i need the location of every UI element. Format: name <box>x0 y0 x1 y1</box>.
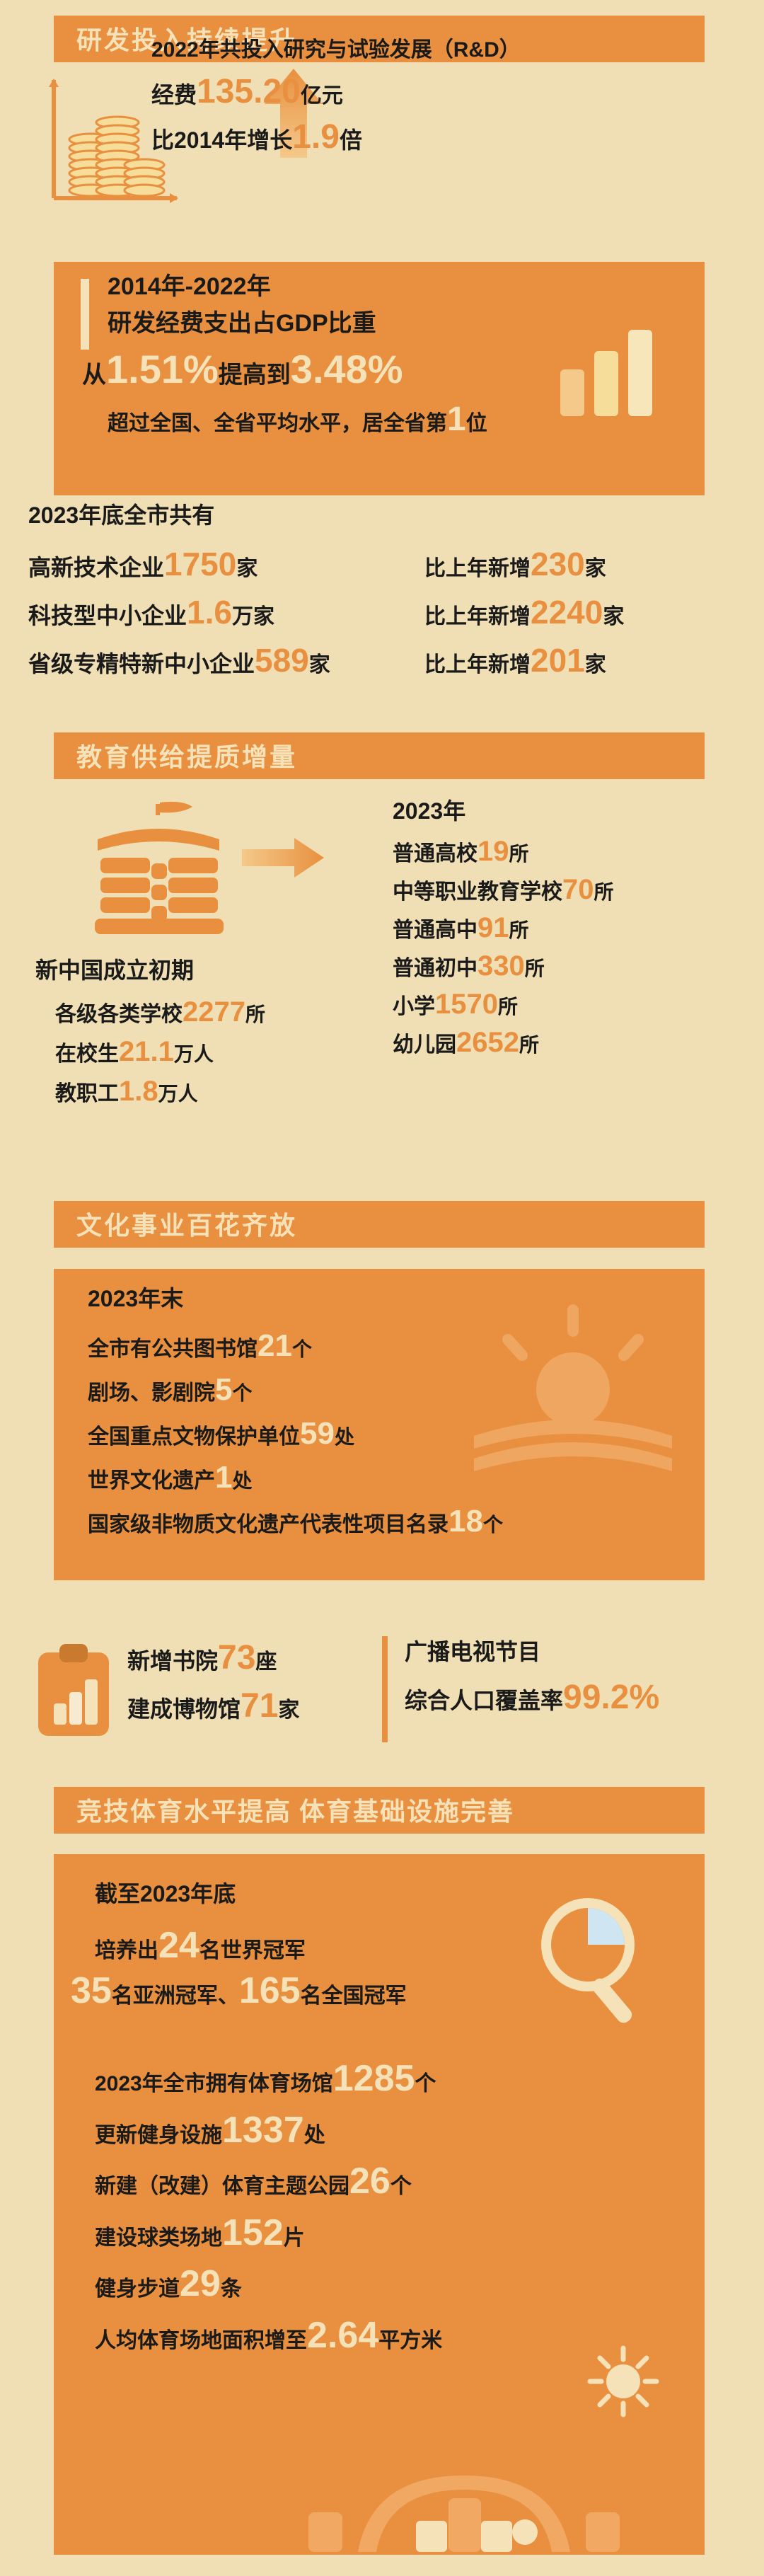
list-item: 2023年全市拥有体育场馆1285个 <box>95 2059 689 2098</box>
ent-1-unit: 万家 <box>232 605 274 628</box>
list-item: 剧场、影剧院5个 <box>88 1374 682 1406</box>
fac-5-unit: 平方米 <box>378 2329 442 2352</box>
edu-now-5-value: 2652 <box>456 1027 519 1058</box>
ent-1-value: 1.6 <box>187 594 232 631</box>
cul-0-value: 21 <box>257 1328 292 1363</box>
edu-now-0-unit: 所 <box>509 843 529 865</box>
list-item: 更新健身设施1337处 <box>95 2111 689 2150</box>
list-item: 国家级非物质文化遗产代表性项目名录18个 <box>88 1505 682 1538</box>
cul-0-unit: 个 <box>292 1338 312 1360</box>
section-header-sports: 竞技体育水平提高 体育基础设施完善 <box>54 1787 705 1834</box>
ent-0-delta-unit: 家 <box>585 557 606 580</box>
edu-now-4-unit: 所 <box>498 996 518 1018</box>
champ-national-value: 165 <box>239 1970 301 2011</box>
rd-intro-block: 2022年共投入研究与试验发展（R&D） 经费135.20亿元 比2014年增长… <box>151 39 717 155</box>
list-item: 建成博物馆71家 <box>127 1689 382 1724</box>
list-item: 中等职业教育学校70所 <box>393 875 746 904</box>
ent-0-value: 1750 <box>164 546 236 582</box>
sports-panel: 截至2023年底 培养出24名世界冠军 35名亚洲冠军、165名全国冠军 202… <box>54 1854 705 2555</box>
edu-past-0-unit: 所 <box>245 1004 265 1025</box>
cbl-1-value: 71 <box>241 1687 278 1725</box>
list-item: 建设球类场地152片 <box>95 2214 689 2253</box>
bar-chart-icon <box>556 326 662 418</box>
culture-heading: 2023年末 <box>88 1287 682 1311</box>
list-item: 健身步道29条 <box>95 2265 689 2304</box>
cul-0-label: 全市有公共图书馆 <box>88 1338 257 1361</box>
gdp-line-2: 研发经费支出占GDP比重 <box>108 311 487 337</box>
ent-2-value: 589 <box>255 642 309 679</box>
cbr-label: 广播电视节目 <box>405 1640 730 1664</box>
gdp-text-block: 2014年-2022年 研发经费支出占GDP比重 从1.51%提高到3.48% … <box>108 275 487 438</box>
list-item: 在校生21.1万人 <box>55 1037 368 1066</box>
ent-0-delta-label: 比上年新增 <box>424 557 531 580</box>
cbl-0-unit: 座 <box>255 1650 277 1674</box>
gdp-rank-value: 1 <box>447 401 466 438</box>
list-item: 普通高中91所 <box>393 913 746 943</box>
panel-tick <box>81 279 89 350</box>
section-title-culture: 文化事业百花齐放 <box>76 1205 297 1242</box>
rd-line-2: 经费135.20亿元 <box>151 74 717 110</box>
rd-line-2-value: 135.20 <box>197 73 301 110</box>
enterprise-heading: 2023年底全市共有 <box>28 504 743 528</box>
infographic-page: 研发投入持续提升 <box>0 0 764 2576</box>
edu-present-heading: 2023年 <box>393 800 746 824</box>
edu-now-1-label: 中等职业教育学校 <box>393 880 562 904</box>
champ-pre: 培养出 <box>95 1939 158 1962</box>
culture-bottom-right: 广播电视节目 综合人口覆盖率99.2% <box>405 1640 730 1715</box>
education-past-block: 新中国成立初期 各级各类学校2277所 在校生21.1万人 教职工1.8万人 <box>35 959 368 1106</box>
gdp-from-value: 1.51% <box>106 347 219 391</box>
sports-heading: 截至2023年底 <box>95 1882 590 1907</box>
vertical-divider <box>382 1636 388 1742</box>
fac-5-value: 2.64 <box>307 2315 378 2356</box>
edu-now-3-value: 330 <box>477 950 525 982</box>
list-item: 幼儿园2652所 <box>393 1028 746 1057</box>
cbl-1-unit: 家 <box>278 1698 299 1722</box>
right-arrow-icon <box>241 836 325 879</box>
list-item: 新增书院73座 <box>127 1640 382 1676</box>
edu-past-0-label: 各级各类学校 <box>55 1003 183 1026</box>
edu-past-0-value: 2277 <box>183 996 245 1028</box>
fac-4-value: 29 <box>180 2263 221 2304</box>
list-item: 普通高校19所 <box>393 836 746 866</box>
champ-asia-value: 35 <box>71 1970 112 2011</box>
edu-now-4-label: 小学 <box>393 995 435 1018</box>
edu-now-2-unit: 所 <box>509 919 529 941</box>
fac-4-label: 健身步道 <box>95 2277 180 2301</box>
edu-now-4-value: 1570 <box>435 989 498 1020</box>
edu-past-2-label: 教职工 <box>55 1082 119 1105</box>
ent-2-delta-value: 201 <box>531 642 585 679</box>
fac-2-value: 26 <box>349 2161 390 2202</box>
section-header-culture: 文化事业百花齐放 <box>54 1201 705 1248</box>
gdp-from-label: 从 <box>82 362 106 389</box>
cul-4-value: 18 <box>448 1504 483 1539</box>
fac-1-value: 1337 <box>222 2110 304 2151</box>
rd-line-3-value: 1.9 <box>292 118 340 156</box>
list-item: 普通初中330所 <box>393 951 746 981</box>
ent-0-delta-value: 230 <box>531 546 585 582</box>
champion-line-2: 35名亚洲冠军、165名全国冠军 <box>71 1972 590 2011</box>
fac-1-unit: 处 <box>304 2124 325 2147</box>
rd-gdp-panel: 2014年-2022年 研发经费支出占GDP比重 从1.51%提高到3.48% … <box>54 262 705 495</box>
fac-2-unit: 个 <box>390 2175 412 2198</box>
cul-2-unit: 处 <box>335 1426 354 1448</box>
gdp-rank-unit: 位 <box>466 412 487 435</box>
ent-2-delta-unit: 家 <box>585 653 606 677</box>
enterprise-block: 2023年底全市共有 高新技术企业1750家 比上年新增230家 科技型中小企业… <box>28 504 743 679</box>
edu-now-0-label: 普通高校 <box>393 842 477 866</box>
cul-3-label: 世界文化遗产 <box>88 1469 215 1493</box>
list-item: 教职工1.8万人 <box>55 1076 368 1106</box>
fac-0-value: 1285 <box>333 2058 415 2099</box>
gdp-rank-label: 超过全国、全省平均水平，居全省第 <box>108 412 447 435</box>
culture-panel: 2023年末 全市有公共图书馆21个 剧场、影剧院5个 全国重点文物保护单位59… <box>54 1269 705 1580</box>
edu-past-2-unit: 万人 <box>158 1083 198 1105</box>
ent-2-unit: 家 <box>309 653 330 677</box>
list-item: 全国重点文物保护单位59处 <box>88 1418 682 1450</box>
gdp-to-label: 提高到 <box>219 362 291 389</box>
list-item: 人均体育场地面积增至2.64平方米 <box>95 2316 689 2355</box>
fac-3-label: 建设球类场地 <box>95 2226 222 2250</box>
clipboard-chart-icon <box>31 1638 116 1744</box>
sports-text-block: 截至2023年底 培养出24名世界冠军 35名亚洲冠军、165名全国冠军 <box>95 1882 590 2011</box>
list-item: 新建（改建）体育主题公园26个 <box>95 2162 689 2201</box>
fac-4-unit: 条 <box>221 2277 242 2301</box>
culture-bottom-left: 新增书院73座 建成博物馆71家 <box>127 1640 382 1725</box>
fac-0-label: 2023年全市拥有体育场馆 <box>95 2072 333 2095</box>
edu-now-5-unit: 所 <box>519 1034 539 1056</box>
cbr-value-row: 综合人口覆盖率99.2% <box>405 1680 730 1715</box>
ent-1-delta-unit: 家 <box>603 605 624 628</box>
gdp-line-3: 从1.51%提高到3.48% <box>82 349 487 391</box>
stadium-icon <box>266 2413 662 2555</box>
table-row: 高新技术企业1750家 比上年新增230家 <box>28 545 743 583</box>
cul-4-label: 国家级非物质文化遗产代表性项目名录 <box>88 1513 448 1536</box>
fac-3-value: 152 <box>222 2212 284 2253</box>
edu-now-0-value: 19 <box>477 836 509 867</box>
education-present-block: 2023年 普通高校19所 中等职业教育学校70所 普通高中91所 普通初中33… <box>393 800 746 1057</box>
section-title-sports: 竞技体育水平提高 体育基础设施完善 <box>76 1791 514 1828</box>
ent-0-unit: 家 <box>236 557 257 580</box>
ent-1-label: 科技型中小企业 <box>28 603 187 628</box>
table-row: 省级专精特新中小企业589家 比上年新增201家 <box>28 641 743 679</box>
champion-line-1: 培养出24名世界冠军 <box>95 1926 590 1965</box>
edu-past-1-unit: 万人 <box>174 1043 214 1065</box>
list-item: 全市有公共图书馆21个 <box>88 1330 682 1362</box>
ent-1-delta-value: 2240 <box>531 594 603 631</box>
list-item: 各级各类学校2277所 <box>55 997 368 1027</box>
edu-now-1-unit: 所 <box>594 881 614 903</box>
edu-now-1-value: 70 <box>562 874 594 905</box>
section-header-education: 教育供给提质增量 <box>54 732 705 779</box>
champ-asia-label: 名亚洲冠军、 <box>112 1984 239 2008</box>
cbl-1-label: 建成博物馆 <box>127 1696 241 1722</box>
table-row: 科技型中小企业1.6万家 比上年新增2240家 <box>28 593 743 631</box>
fac-3-unit: 片 <box>284 2226 305 2250</box>
fac-0-unit: 个 <box>415 2072 436 2095</box>
fac-1-label: 更新健身设施 <box>95 2124 222 2147</box>
cbl-0-value: 73 <box>218 1639 255 1677</box>
cul-2-label: 全国重点文物保护单位 <box>88 1425 300 1449</box>
ent-2-label: 省级专精特新中小企业 <box>28 651 255 677</box>
champ-world-value: 24 <box>158 1925 199 1966</box>
cul-3-value: 1 <box>215 1460 232 1495</box>
cbl-0-label: 新增书院 <box>127 1648 218 1674</box>
culture-text-block: 2023年末 全市有公共图书馆21个 剧场、影剧院5个 全国重点文物保护单位59… <box>88 1287 682 1539</box>
cul-2-value: 59 <box>300 1416 335 1451</box>
school-building-icon <box>85 798 233 940</box>
edu-past-1-label: 在校生 <box>55 1042 119 1066</box>
rd-line-1: 2022年共投入研究与试验发展（R&D） <box>151 39 717 62</box>
edu-past-heading: 新中国成立初期 <box>35 959 368 983</box>
fac-5-label: 人均体育场地面积增至 <box>95 2329 307 2352</box>
cbr-sub-label: 综合人口覆盖率 <box>405 1688 563 1713</box>
cul-1-label: 剧场、影剧院 <box>88 1381 215 1405</box>
cul-3-unit: 处 <box>232 1470 252 1492</box>
section-title-education: 教育供给提质增量 <box>76 737 297 774</box>
ent-0-label: 高新技术企业 <box>28 555 164 580</box>
rd-line-3: 比2014年增长1.9倍 <box>151 120 717 155</box>
edu-now-3-unit: 所 <box>525 958 545 979</box>
champ-world-label: 名世界冠军 <box>199 1939 306 1962</box>
edu-past-1-value: 21.1 <box>119 1036 174 1067</box>
cul-1-value: 5 <box>215 1372 232 1407</box>
rd-line-2-label: 经费 <box>151 82 197 108</box>
edu-now-2-value: 91 <box>477 912 509 943</box>
sports-facilities-block: 2023年全市拥有体育场馆1285个 更新健身设施1337处 新建（改建）体育主… <box>95 2059 689 2355</box>
list-item: 世界文化遗产1处 <box>88 1461 682 1494</box>
edu-now-5-label: 幼儿园 <box>393 1033 456 1057</box>
ent-1-delta-label: 比上年新增 <box>424 605 531 628</box>
gdp-line-4: 超过全国、全省平均水平，居全省第1位 <box>108 402 487 437</box>
edu-now-2-label: 普通高中 <box>393 919 477 942</box>
rd-line-3-unit: 倍 <box>340 127 362 153</box>
edu-now-3-label: 普通初中 <box>393 957 477 980</box>
edu-past-2-value: 1.8 <box>119 1076 158 1107</box>
rd-line-3-label: 比2014年增长 <box>151 127 292 153</box>
cbr-value: 99.2% <box>563 1679 659 1716</box>
cul-1-unit: 个 <box>232 1382 252 1404</box>
cul-4-unit: 个 <box>483 1514 503 1536</box>
champ-national-label: 名全国冠军 <box>301 1984 407 2008</box>
gdp-to-value: 3.48% <box>291 347 403 391</box>
rd-line-2-unit: 亿元 <box>301 84 343 108</box>
fac-2-label: 新建（改建）体育主题公园 <box>95 2175 349 2198</box>
gdp-line-1: 2014年-2022年 <box>108 275 487 300</box>
ent-2-delta-label: 比上年新增 <box>424 653 531 677</box>
list-item: 小学1570所 <box>393 989 746 1019</box>
